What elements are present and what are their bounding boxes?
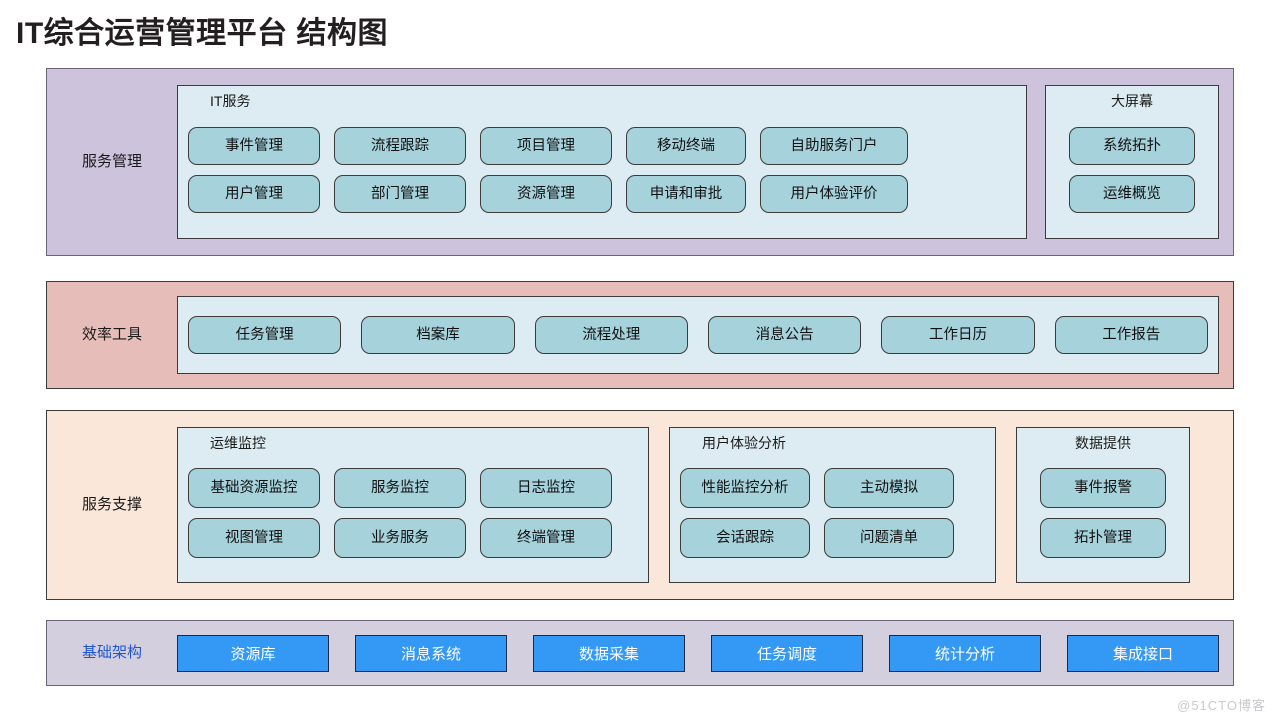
node-integration-interface[interactable]: 集成接口 — [1067, 635, 1219, 672]
node-topology-management[interactable]: 拓扑管理 — [1040, 518, 1166, 558]
group-rows-big-screen: 系统拓扑 运维概览 — [1056, 113, 1208, 228]
node-system-topology[interactable]: 系统拓扑 — [1069, 127, 1195, 165]
node-user-management[interactable]: 用户管理 — [188, 175, 320, 213]
node-data-collection[interactable]: 数据采集 — [533, 635, 685, 672]
group-title-ops-monitor: 运维监控 — [188, 434, 638, 453]
node-work-calendar[interactable]: 工作日历 — [881, 316, 1034, 354]
group-row: 基础资源监控 服务监控 日志监控 — [188, 468, 638, 508]
node-mobile-terminal[interactable]: 移动终端 — [626, 127, 746, 165]
band-label-efficiency-tools: 效率工具 — [47, 326, 177, 344]
node-incident-management[interactable]: 事件管理 — [188, 127, 320, 165]
group-ops-monitor: 运维监控 基础资源监控 服务监控 日志监控 视图管理 业务服务 终端管理 — [177, 427, 649, 583]
group-rows-ops-monitor: 基础资源监控 服务监控 日志监控 视图管理 业务服务 终端管理 — [188, 455, 638, 572]
group-title-ux-analysis: 用户体验分析 — [680, 434, 985, 453]
band-body-infrastructure: 资源库 消息系统 数据采集 任务调度 统计分析 集成接口 — [177, 621, 1233, 685]
band-service-management: 服务管理 IT服务 事件管理 流程跟踪 项目管理 移动终端 自助服务门户 用户管… — [46, 68, 1234, 256]
node-task-management[interactable]: 任务管理 — [188, 316, 341, 354]
group-ux-analysis: 用户体验分析 性能监控分析 主动模拟 会话跟踪 问题清单 — [669, 427, 996, 583]
group-big-screen: 大屏幕 系统拓扑 运维概览 — [1045, 85, 1219, 239]
group-row: 运维概览 — [1056, 175, 1208, 213]
group-rows-data-provider: 事件报警 拓扑管理 — [1027, 455, 1179, 572]
group-row: 事件管理 流程跟踪 项目管理 移动终端 自助服务门户 — [188, 127, 1016, 165]
node-application-approval[interactable]: 申请和审批 — [626, 175, 746, 213]
band-label-infrastructure: 基础架构 — [47, 644, 177, 662]
node-task-scheduling[interactable]: 任务调度 — [711, 635, 863, 672]
node-self-service-portal[interactable]: 自助服务门户 — [760, 127, 908, 165]
group-rows-efficiency-tools: 任务管理 档案库 流程处理 消息公告 工作日历 工作报告 — [188, 307, 1208, 363]
band-body-service-support: 运维监控 基础资源监控 服务监控 日志监控 视图管理 业务服务 终端管理 用户体… — [177, 411, 1233, 599]
band-label-service-support: 服务支撑 — [47, 496, 177, 514]
node-session-tracking[interactable]: 会话跟踪 — [680, 518, 810, 558]
band-body-service-management: IT服务 事件管理 流程跟踪 项目管理 移动终端 自助服务门户 用户管理 部门管… — [177, 69, 1233, 255]
group-title-big-screen: 大屏幕 — [1056, 92, 1208, 111]
group-it-service: IT服务 事件管理 流程跟踪 项目管理 移动终端 自助服务门户 用户管理 部门管… — [177, 85, 1027, 239]
node-terminal-management[interactable]: 终端管理 — [480, 518, 612, 558]
node-issue-list[interactable]: 问题清单 — [824, 518, 954, 558]
node-process-tracking[interactable]: 流程跟踪 — [334, 127, 466, 165]
group-rows-ux-analysis: 性能监控分析 主动模拟 会话跟踪 问题清单 — [680, 455, 985, 572]
node-user-experience-rating[interactable]: 用户体验评价 — [760, 175, 908, 213]
band-body-efficiency-tools: 任务管理 档案库 流程处理 消息公告 工作日历 工作报告 — [177, 282, 1233, 388]
node-process-handling[interactable]: 流程处理 — [535, 316, 688, 354]
node-performance-monitoring-analysis[interactable]: 性能监控分析 — [680, 468, 810, 508]
band-infrastructure: 基础架构 资源库 消息系统 数据采集 任务调度 统计分析 集成接口 — [46, 620, 1234, 686]
node-message-system[interactable]: 消息系统 — [355, 635, 507, 672]
group-rows-it-service: 事件管理 流程跟踪 项目管理 移动终端 自助服务门户 用户管理 部门管理 资源管… — [188, 113, 1016, 228]
page-title: IT综合运营管理平台 结构图 — [16, 8, 388, 52]
group-title-it-service: IT服务 — [188, 92, 1016, 111]
node-business-service[interactable]: 业务服务 — [334, 518, 466, 558]
group-row: 事件报警 — [1027, 468, 1179, 508]
group-row: 系统拓扑 — [1056, 127, 1208, 165]
node-view-management[interactable]: 视图管理 — [188, 518, 320, 558]
group-efficiency-tools: 任务管理 档案库 流程处理 消息公告 工作日历 工作报告 — [177, 296, 1219, 374]
node-service-monitoring[interactable]: 服务监控 — [334, 468, 466, 508]
group-data-provider: 数据提供 事件报警 拓扑管理 — [1016, 427, 1190, 583]
group-row: 任务管理 档案库 流程处理 消息公告 工作日历 工作报告 — [188, 316, 1208, 354]
node-active-simulation[interactable]: 主动模拟 — [824, 468, 954, 508]
node-statistical-analysis[interactable]: 统计分析 — [889, 635, 1041, 672]
group-row: 性能监控分析 主动模拟 — [680, 468, 985, 508]
band-service-support: 服务支撑 运维监控 基础资源监控 服务监控 日志监控 视图管理 业务服务 终端管… — [46, 410, 1234, 600]
group-row: 视图管理 业务服务 终端管理 — [188, 518, 638, 558]
node-log-monitoring[interactable]: 日志监控 — [480, 468, 612, 508]
band-efficiency-tools: 效率工具 任务管理 档案库 流程处理 消息公告 工作日历 工作报告 — [46, 281, 1234, 389]
group-title-data-provider: 数据提供 — [1027, 434, 1179, 453]
group-row: 拓扑管理 — [1027, 518, 1179, 558]
node-basic-resource-monitoring[interactable]: 基础资源监控 — [188, 468, 320, 508]
node-resource-management[interactable]: 资源管理 — [480, 175, 612, 213]
node-resource-repository[interactable]: 资源库 — [177, 635, 329, 672]
node-archive-library[interactable]: 档案库 — [361, 316, 514, 354]
group-row: 会话跟踪 问题清单 — [680, 518, 985, 558]
node-ops-overview[interactable]: 运维概览 — [1069, 175, 1195, 213]
band-label-service-management: 服务管理 — [47, 153, 177, 171]
node-project-management[interactable]: 项目管理 — [480, 127, 612, 165]
node-event-alarm[interactable]: 事件报警 — [1040, 468, 1166, 508]
watermark: @51CTO博客 — [1177, 695, 1266, 714]
node-department-management[interactable]: 部门管理 — [334, 175, 466, 213]
node-work-report[interactable]: 工作报告 — [1055, 316, 1208, 354]
node-message-announcement[interactable]: 消息公告 — [708, 316, 861, 354]
architecture-diagram: IT综合运营管理平台 结构图 服务管理 IT服务 事件管理 流程跟踪 项目管理 … — [0, 0, 1280, 720]
group-row: 用户管理 部门管理 资源管理 申请和审批 用户体验评价 — [188, 175, 1016, 213]
